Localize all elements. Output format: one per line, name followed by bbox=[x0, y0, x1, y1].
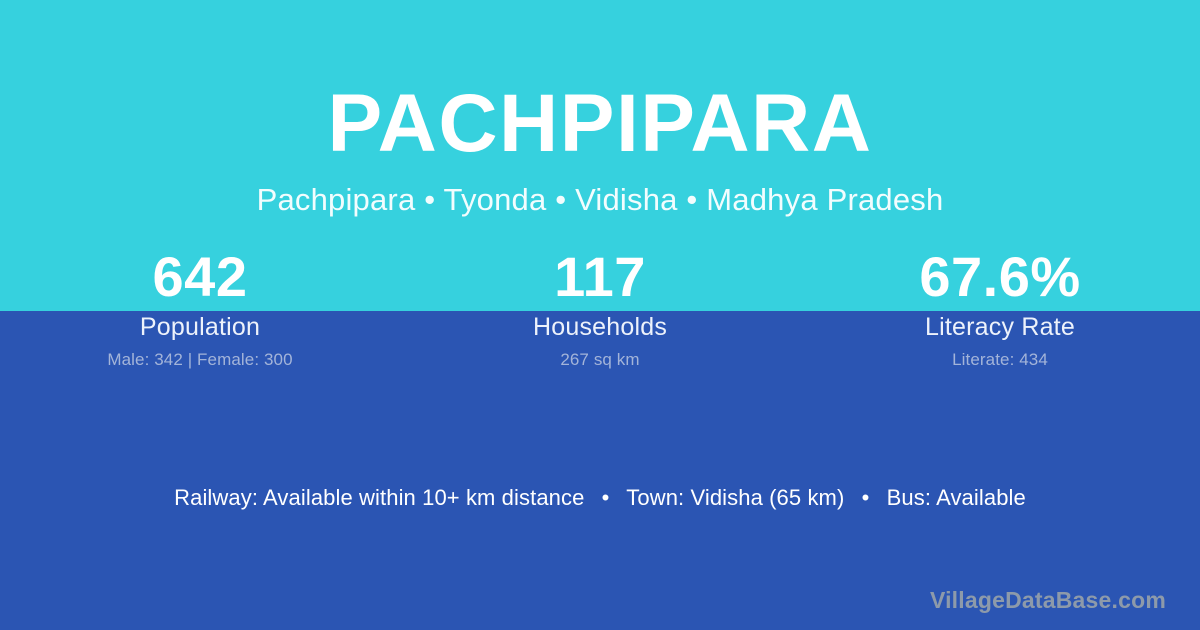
page-title: PACHPIPARA bbox=[0, 80, 1200, 168]
amenity-separator-2: • bbox=[851, 483, 881, 513]
amenity-bus: Bus: Available bbox=[887, 485, 1026, 510]
stat-population: 642 Population Male: 342 | Female: 300 bbox=[0, 248, 400, 388]
village-info-card: PACHPIPARA Pachpipara • Tyonda • Vidisha… bbox=[0, 0, 1200, 630]
stats-row: 642 Population Male: 342 | Female: 300 1… bbox=[0, 248, 1200, 388]
stat-literacy-rate-value: 67.6% bbox=[800, 248, 1200, 306]
amenity-railway: Railway: Available within 10+ km distanc… bbox=[174, 485, 584, 510]
stat-households-value: 117 bbox=[400, 248, 800, 306]
stat-population-value: 642 bbox=[0, 248, 400, 306]
amenity-nearest-town: Town: Vidisha (65 km) bbox=[626, 485, 844, 510]
stat-households-detail: 267 sq km bbox=[400, 349, 800, 370]
stat-literacy-rate-label: Literacy Rate bbox=[800, 312, 1200, 342]
stat-literacy-rate: 67.6% Literacy Rate Literate: 434 bbox=[800, 248, 1200, 388]
stat-population-detail: Male: 342 | Female: 300 bbox=[0, 349, 400, 370]
stat-literacy-rate-detail: Literate: 434 bbox=[800, 349, 1200, 370]
stat-households: 117 Households 267 sq km bbox=[400, 248, 800, 388]
hero-section: PACHPIPARA Pachpipara • Tyonda • Vidisha… bbox=[0, 0, 1200, 240]
breadcrumb: Pachpipara • Tyonda • Vidisha • Madhya P… bbox=[0, 181, 1200, 219]
site-watermark: VillageDataBase.com bbox=[930, 586, 1166, 614]
stat-households-label: Households bbox=[400, 312, 800, 342]
amenity-separator-1: • bbox=[591, 483, 621, 513]
amenities-line: Railway: Available within 10+ km distanc… bbox=[0, 483, 1200, 513]
stat-population-label: Population bbox=[0, 312, 400, 342]
